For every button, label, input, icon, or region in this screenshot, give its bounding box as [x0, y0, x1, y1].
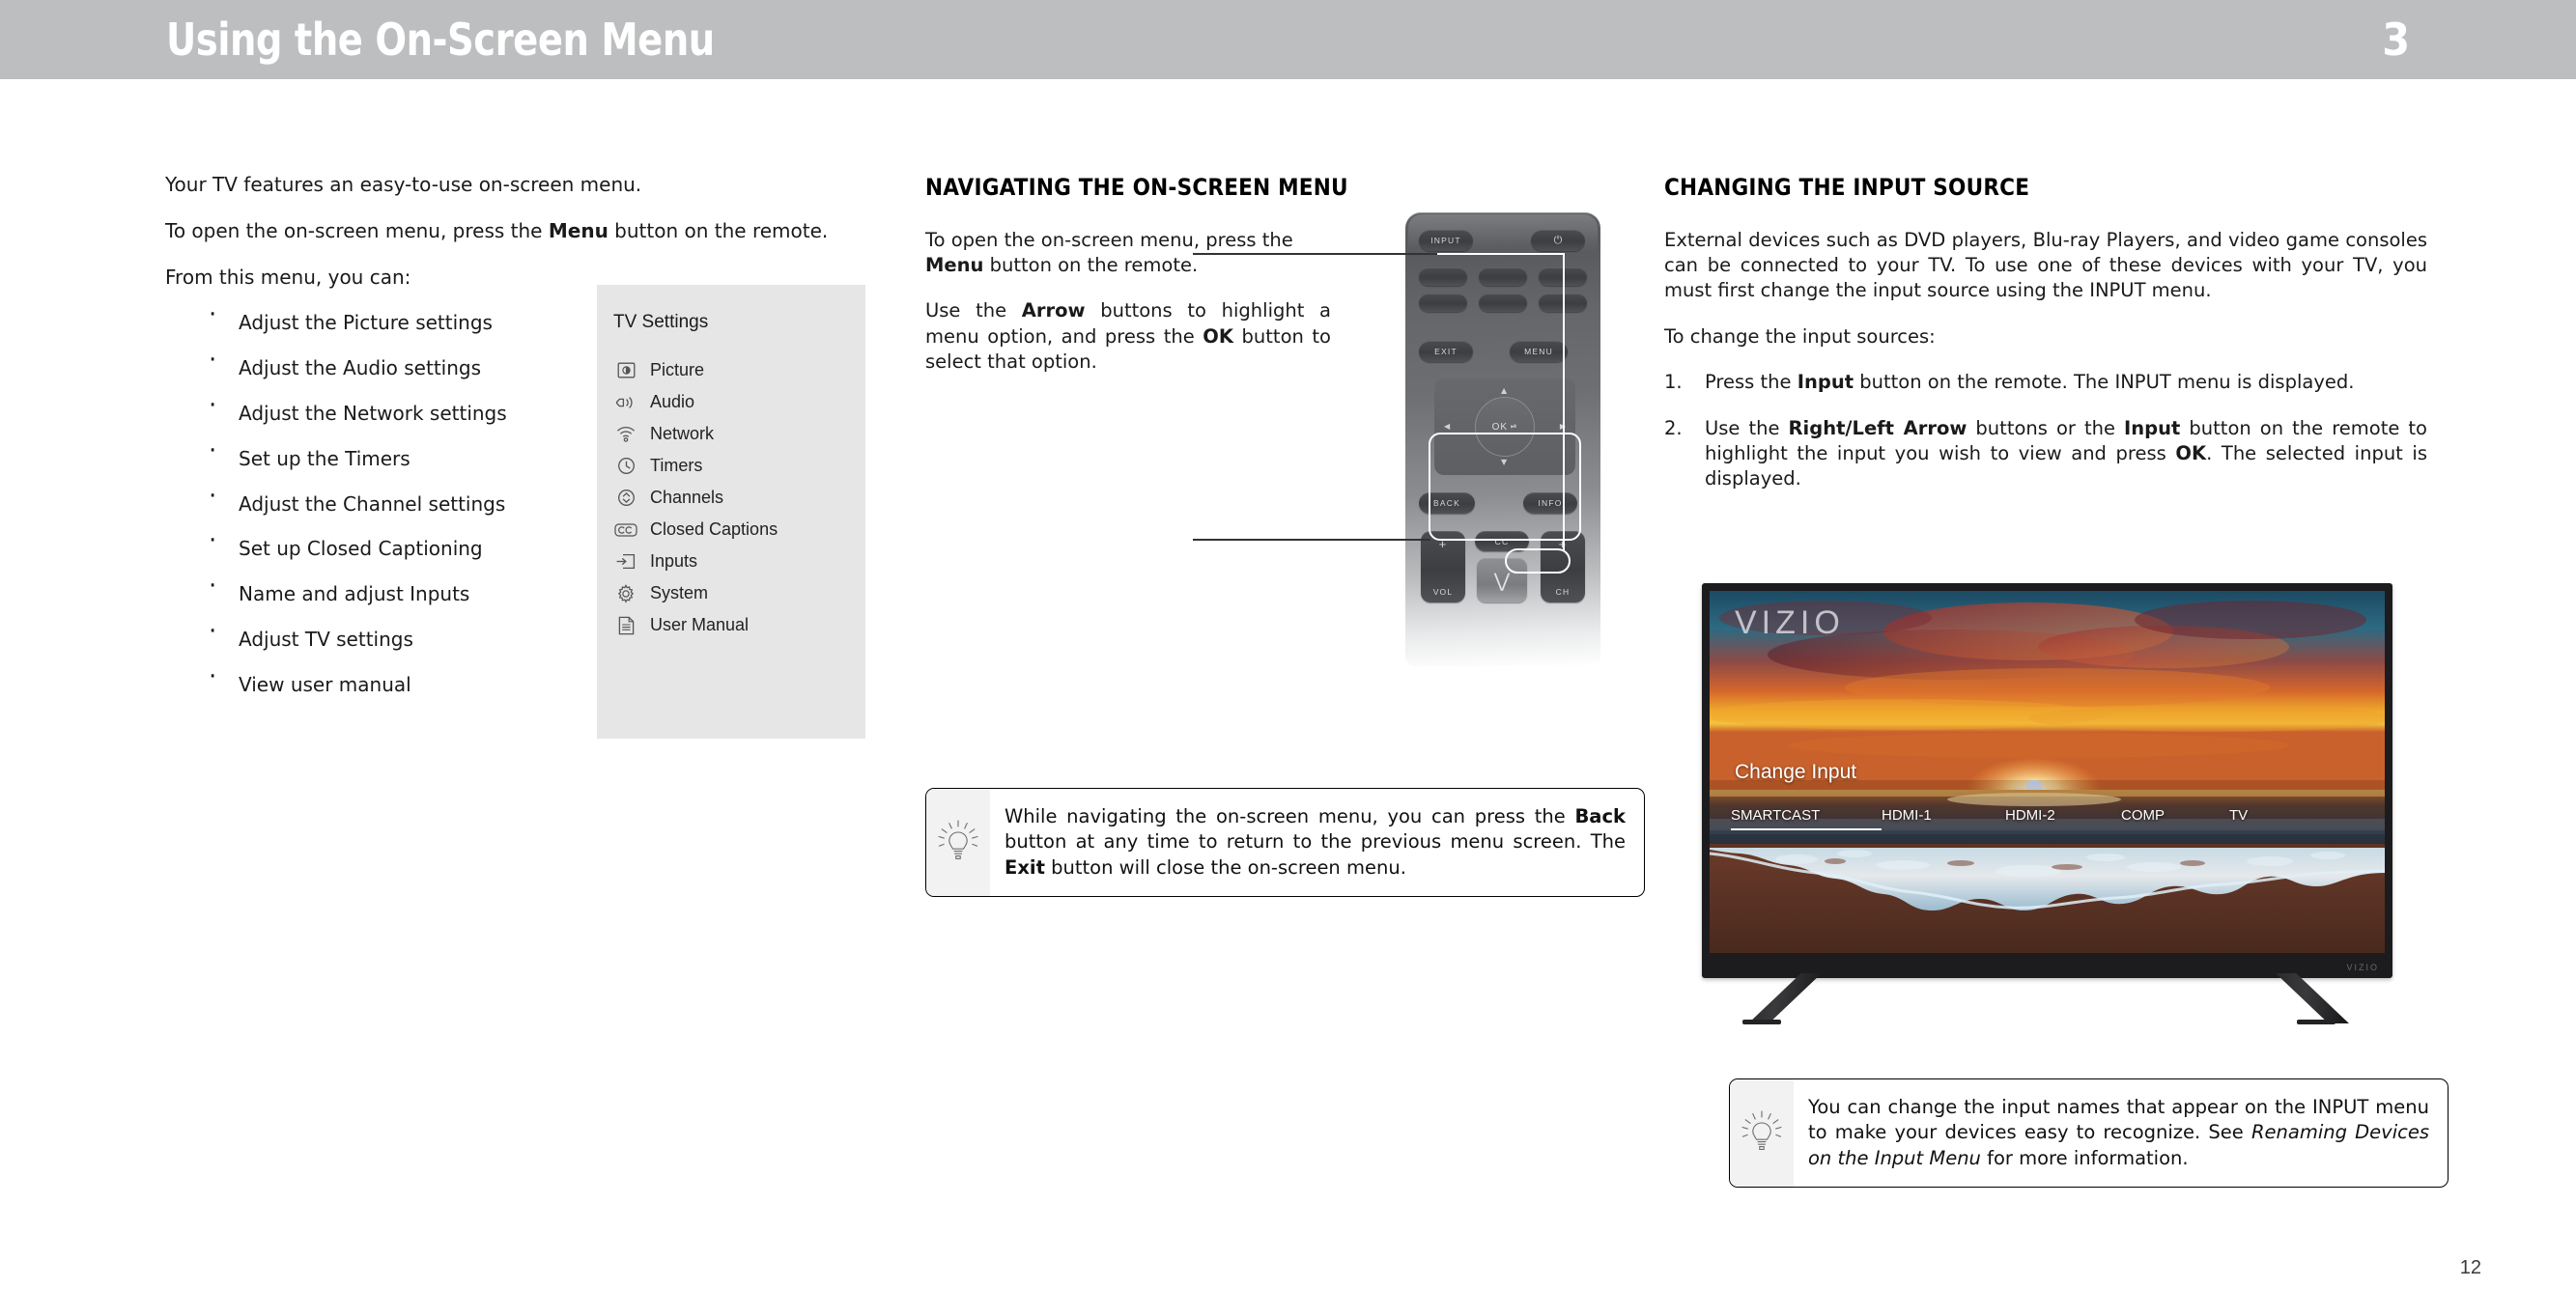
input-change-steps: Press the Input button on the remote. Th…	[1664, 370, 2427, 492]
callout-line-dpad	[1193, 539, 1430, 541]
tip-box-navigating: While navigating the on-screen menu, you…	[925, 788, 1645, 897]
remote-volume-rocker[interactable]: + VOL	[1421, 531, 1465, 602]
right-column: CHANGING THE INPUT SOURCE External devic…	[1664, 172, 2427, 513]
right-paragraph-2: To change the input sources:	[1664, 324, 2427, 350]
middle-paragraph-2: Use the Arrow buttons to highlight a men…	[925, 298, 1331, 374]
sidebar-item-label: Channels	[650, 488, 723, 508]
speaker-icon	[613, 390, 638, 415]
exit-keyword: Exit	[1005, 856, 1045, 879]
text-run: button at any time to return to the prev…	[1005, 830, 1626, 853]
tv-settings-title: TV Settings	[613, 312, 865, 333]
remote-exit-button[interactable]: EXIT	[1419, 341, 1473, 362]
arrow-up-icon[interactable]: ▲	[1501, 387, 1507, 395]
menu-keyword: Menu	[549, 219, 609, 242]
page-header: Using the On-Screen Menu 3	[0, 0, 2576, 79]
text-run: While navigating the on-screen menu, you…	[1005, 805, 1574, 827]
remote-input-button[interactable]: INPUT	[1419, 230, 1473, 251]
input-option-smartcast[interactable]: SMARTCAST	[1731, 807, 1882, 830]
tv-settings-panel: TV Settings Picture Audio Network Timers	[597, 285, 865, 739]
remote-exit-label: EXIT	[1434, 347, 1458, 356]
power-icon: ⏻	[1554, 235, 1563, 247]
wifi-icon	[613, 422, 638, 447]
list-item: Press the Input button on the remote. Th…	[1664, 370, 2427, 395]
input-option-tv[interactable]: TV	[2229, 807, 2287, 824]
callout-line-menu-across	[1437, 253, 1565, 255]
tip-text-navigating: While navigating the on-screen menu, you…	[990, 789, 1644, 896]
tip-box-renaming: You can change the input names that appe…	[1729, 1078, 2449, 1188]
text-run: Use the	[925, 299, 1022, 322]
tv-settings-list: Picture Audio Network Timers Channels	[597, 354, 865, 641]
cc-icon	[613, 518, 638, 543]
remote-app-button-5[interactable]	[1479, 294, 1527, 312]
input-option-hdmi-2[interactable]: HDMI-2	[2005, 807, 2121, 824]
picture-icon	[613, 358, 638, 383]
sidebar-item-label: Network	[650, 424, 714, 444]
arrow-keyword: Right/Left Arrow	[1789, 417, 1967, 439]
document-icon	[613, 613, 638, 638]
dpad-highlight	[1429, 433, 1581, 541]
tv-bezel: VIZIO Change Input SMARTCAST HDMI-1 HDMI…	[1702, 583, 2392, 978]
input-option-hdmi-1[interactable]: HDMI-1	[1882, 807, 2005, 824]
input-arrow-icon	[613, 549, 638, 574]
section-heading-navigating: NAVIGATING THE ON-SCREEN MENU	[925, 172, 1645, 203]
menu-button-highlight	[1505, 548, 1571, 574]
text-run: To open the on-screen menu, press the	[165, 219, 549, 242]
sidebar-item-label: Timers	[650, 456, 702, 476]
page-title: Using the On-Screen Menu	[166, 14, 715, 66]
remote-input-label: INPUT	[1430, 236, 1461, 245]
sidebar-item-timers[interactable]: Timers	[597, 450, 865, 482]
callout-line-menu-left	[1193, 253, 1444, 255]
menu-keyword: Menu	[925, 254, 983, 276]
sidebar-item-audio[interactable]: Audio	[597, 386, 865, 418]
channel-label: CH	[1556, 587, 1571, 597]
text-run: for more information.	[1981, 1147, 2189, 1169]
remote-app-button-2[interactable]	[1479, 267, 1527, 286]
ok-keyword: OK	[2175, 442, 2206, 464]
remote-ok-label: OK	[1492, 422, 1508, 433]
lightbulb-icon	[1730, 1079, 1794, 1187]
tv-foot-left	[1742, 1020, 1781, 1024]
play-pause-icon: ⏯	[1511, 422, 1517, 432]
sidebar-item-label: System	[650, 583, 708, 603]
input-keyword: Input	[1798, 371, 1854, 393]
sidebar-item-label: User Manual	[650, 615, 749, 635]
input-option-comp[interactable]: COMP	[2121, 807, 2229, 824]
lightbulb-icon	[926, 789, 990, 896]
clock-icon	[613, 454, 638, 479]
back-keyword: Back	[1574, 805, 1626, 827]
tv-foot-right	[2297, 1020, 2335, 1024]
text-run: button on the remote. The INPUT menu is …	[1854, 371, 2354, 393]
channel-updown-icon	[613, 486, 638, 511]
input-keyword: Input	[2124, 417, 2180, 439]
arrow-keyword: Arrow	[1022, 299, 1086, 322]
arrow-left-icon[interactable]: ◀	[1444, 423, 1450, 431]
vizio-screen-logo: VIZIO	[1735, 604, 1845, 642]
tip-text-renaming: You can change the input names that appe…	[1794, 1079, 2448, 1187]
remote-menu-button[interactable]: MENU	[1510, 341, 1568, 362]
text-run: button will close the on-screen menu.	[1045, 856, 1406, 879]
sidebar-item-label: Closed Captions	[650, 519, 778, 540]
text-run: buttons or the	[1967, 417, 2124, 439]
sidebar-item-label: Picture	[650, 360, 704, 380]
sidebar-item-inputs[interactable]: Inputs	[597, 546, 865, 577]
text-run: button on the remote.	[609, 219, 828, 242]
text-run: button on the remote.	[983, 254, 1198, 276]
sidebar-item-channels[interactable]: Channels	[597, 482, 865, 514]
remote-app-button-1[interactable]	[1419, 267, 1467, 286]
section-heading-changing-input: CHANGING THE INPUT SOURCE	[1664, 172, 2427, 203]
sidebar-item-label: Inputs	[650, 551, 697, 572]
change-input-label: Change Input	[1735, 761, 1856, 784]
remote-power-button[interactable]: ⏻	[1531, 230, 1585, 251]
callout-line-menu-down	[1563, 253, 1565, 550]
tv-screen: VIZIO Change Input SMARTCAST HDMI-1 HDMI…	[1710, 591, 2385, 953]
sidebar-item-closed-captions[interactable]: Closed Captions	[597, 514, 865, 546]
chapter-number: 3	[2382, 14, 2410, 66]
left-intro-1: Your TV features an easy-to-use on-scree…	[165, 172, 885, 198]
vizio-bezel-logo: VIZIO	[2346, 963, 2379, 972]
remote-control-illustration: INPUT ⏻ EXIT MENU ▲ ▼ ◀ ▶ OK ⏯ BACK INFO…	[1333, 205, 1613, 668]
ok-keyword: OK	[1203, 325, 1233, 348]
remote-menu-label: MENU	[1524, 347, 1553, 356]
volume-label: VOL	[1433, 587, 1454, 597]
tv-leg-right	[2276, 973, 2349, 1023]
text-run: To open the on-screen menu, press the	[925, 229, 1293, 251]
text-run: Press the	[1705, 371, 1798, 393]
remote-app-button-4[interactable]	[1419, 294, 1467, 312]
list-item: Use the Right/Left Arrow buttons or the …	[1664, 416, 2427, 491]
sidebar-item-system[interactable]: System	[597, 577, 865, 609]
tv-illustration: VIZIO Change Input SMARTCAST HDMI-1 HDMI…	[1683, 583, 2392, 1037]
text-run: Use the	[1705, 417, 1789, 439]
page-number: 12	[2460, 1257, 2481, 1279]
left-intro-2: To open the on-screen menu, press the Me…	[165, 218, 885, 244]
sidebar-item-label: Audio	[650, 392, 694, 412]
sidebar-item-picture[interactable]: Picture	[597, 354, 865, 386]
tv-leg-left	[1748, 973, 1822, 1023]
sidebar-item-network[interactable]: Network	[597, 418, 865, 450]
sidebar-item-user-manual[interactable]: User Manual	[597, 609, 865, 641]
right-paragraph-1: External devices such as DVD players, Bl…	[1664, 228, 2427, 303]
gear-icon	[613, 581, 638, 606]
input-source-menu: SMARTCAST HDMI-1 HDMI-2 COMP TV	[1731, 807, 2368, 830]
